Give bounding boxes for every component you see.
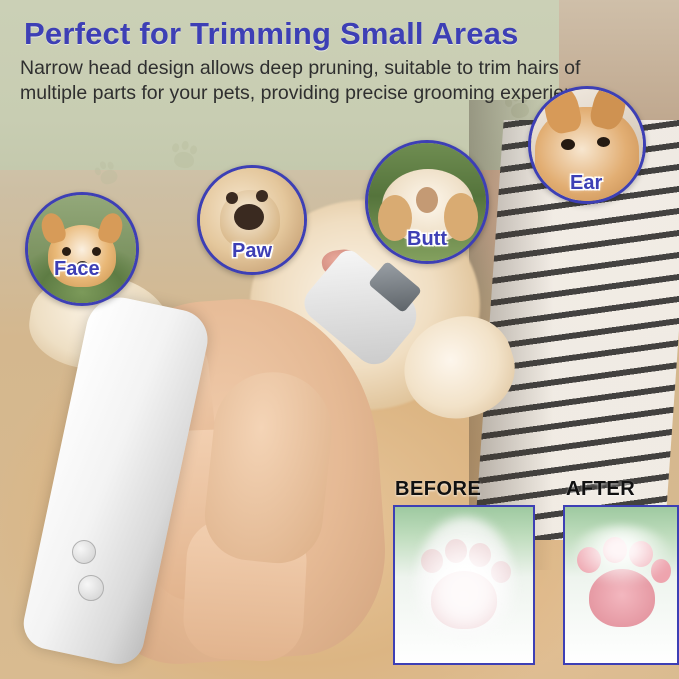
before-label: BEFORE xyxy=(395,478,481,501)
callout-label-face: Face xyxy=(54,258,100,281)
callout-label-ear: Ear xyxy=(570,172,602,195)
callout-label-butt: Butt xyxy=(407,228,447,251)
after-image xyxy=(563,505,679,665)
mode-button-icon xyxy=(78,575,104,601)
callout-label-paw: Paw xyxy=(232,240,272,263)
subtitle-text: Narrow head design allows deep pruning, … xyxy=(20,56,620,106)
after-label: AFTER xyxy=(566,478,635,501)
paw-print-icon xyxy=(168,138,203,173)
product-infographic: Perfect for Trimming Small Areas Narrow … xyxy=(0,0,679,679)
power-button-icon xyxy=(72,540,96,564)
before-image xyxy=(393,505,535,665)
page-title: Perfect for Trimming Small Areas xyxy=(24,16,664,52)
callout-face xyxy=(25,192,139,306)
